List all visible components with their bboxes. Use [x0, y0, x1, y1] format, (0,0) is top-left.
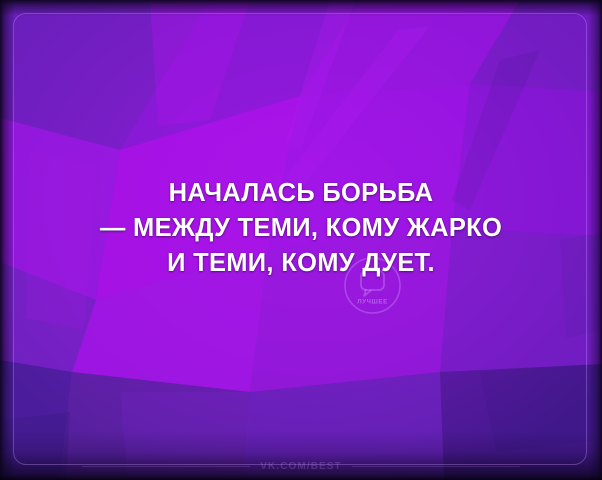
quote-card: ЛУЧШЕЕ НАЧАЛАСЬ БОРЬБА — МЕЖДУ ТЕМИ, КОМ… — [0, 0, 602, 480]
low-poly-background — [0, 0, 602, 480]
